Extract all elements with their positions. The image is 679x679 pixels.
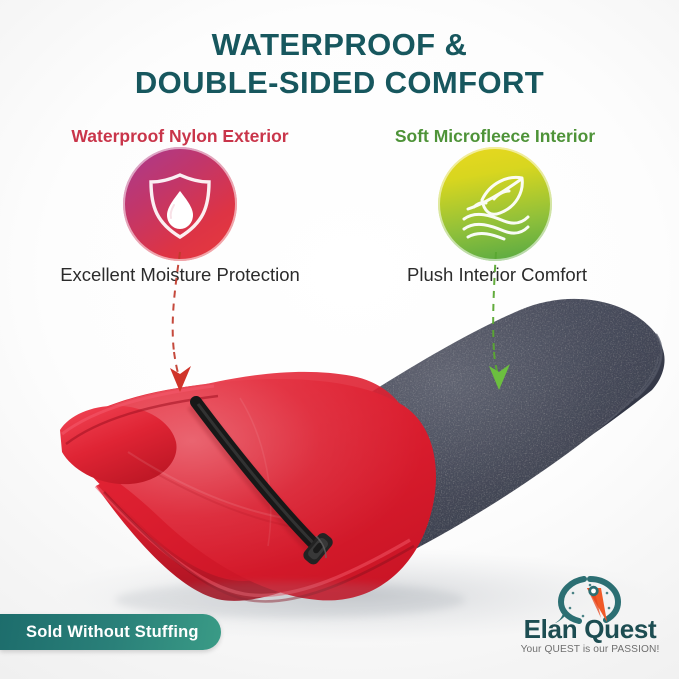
- status-badge: Sold Without Stuffing: [0, 614, 221, 650]
- brand-tagline: Your QUEST is our PASSION!: [505, 644, 675, 655]
- shield-water-drop-icon: [123, 147, 237, 261]
- feature-label-waterproof: Waterproof Nylon Exterior: [15, 126, 345, 147]
- feature-caption-moisture: Excellent Moisture Protection: [10, 264, 350, 286]
- brand-name: Elan Quest: [505, 614, 675, 645]
- feature-label-microfleece: Soft Microfleece Interior: [330, 126, 660, 147]
- title-line-2: DOUBLE-SIDED COMFORT: [0, 64, 679, 102]
- feather-fleece-layers-icon: [438, 147, 552, 261]
- title-line-1: WATERPROOF &: [0, 26, 679, 64]
- brand-logo: Elan Quest Your QUEST is our PASSION!: [505, 576, 675, 672]
- badge-label: Sold Without Stuffing: [26, 623, 199, 642]
- feature-caption-comfort: Plush Interior Comfort: [327, 264, 667, 286]
- page-title: WATERPROOF & DOUBLE-SIDED COMFORT: [0, 26, 679, 103]
- product-infographic: WATERPROOF & DOUBLE-SIDED COMFORT Waterp…: [0, 0, 679, 679]
